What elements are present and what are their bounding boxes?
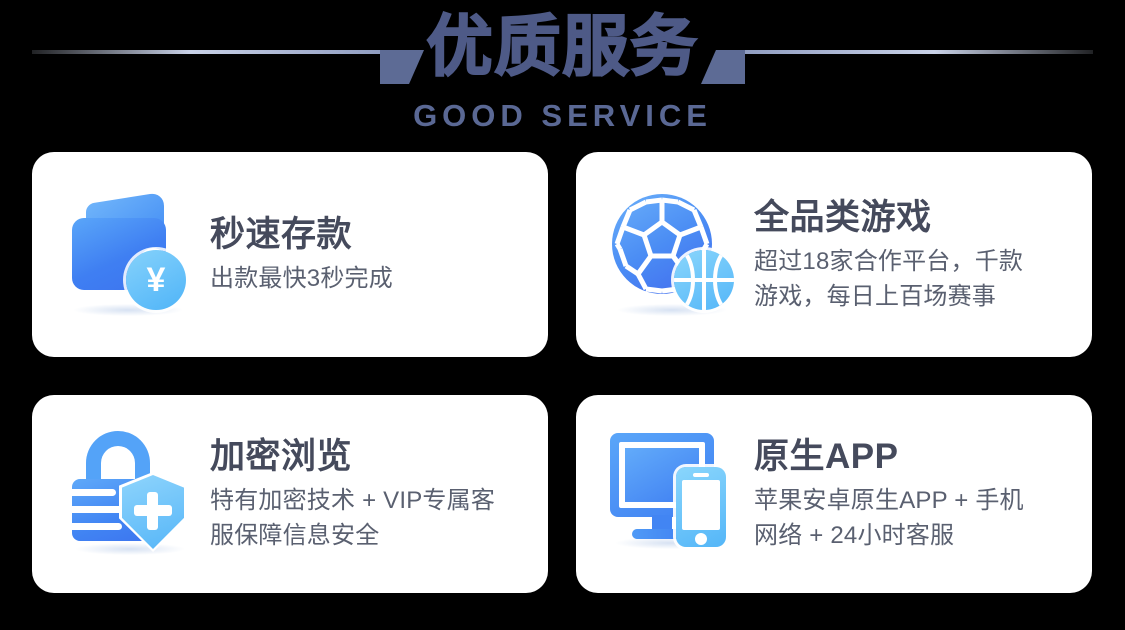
service-card-games[interactable]: 全品类游戏 超过18家合作平台，千款 游戏，每日上百场赛事 (576, 152, 1092, 357)
page-title: 优质服务 (0, 6, 1125, 88)
page-header: 优质服务 GOOD SERVICE (0, 0, 1125, 150)
card-icon-wrap (610, 188, 744, 322)
service-card-grid: ¥ 秒速存款 出款最快3秒完成 (32, 152, 1092, 593)
card-subtitle: 苹果安卓原生APP + 手机 网络 + 24小时客服 (754, 483, 1024, 553)
card-subtitle-line: 超过18家合作平台，千款 (754, 244, 1023, 279)
basketball-icon (674, 250, 734, 310)
lock-stripe (72, 523, 122, 530)
card-title: 全品类游戏 (754, 196, 1023, 240)
card-title: 秒速存款 (210, 213, 393, 257)
card-subtitle: 超过18家合作平台，千款 游戏，每日上百场赛事 (754, 244, 1023, 314)
card-subtitle: 特有加密技术 + VIP专属客 服保障信息安全 (210, 483, 495, 553)
card-icon-wrap (66, 427, 200, 561)
cross-icon (147, 492, 158, 530)
card-title: 加密浏览 (210, 435, 495, 479)
monitor-phone-icon (610, 433, 738, 547)
card-icon-wrap: ¥ (66, 188, 200, 322)
card-text-wrap: 原生APP 苹果安卓原生APP + 手机 网络 + 24小时客服 (754, 435, 1038, 553)
service-card-encryption[interactable]: 加密浏览 特有加密技术 + VIP专属客 服保障信息安全 (32, 395, 548, 593)
phone-screen-icon (682, 480, 720, 530)
card-subtitle-line: 苹果安卓原生APP + 手机 (754, 483, 1024, 518)
card-text-wrap: 秒速存款 出款最快3秒完成 (210, 213, 407, 296)
yen-coin-icon: ¥ (126, 250, 186, 310)
service-card-native-app[interactable]: 原生APP 苹果安卓原生APP + 手机 网络 + 24小时客服 (576, 395, 1092, 593)
wallet-yen-icon: ¥ (68, 196, 190, 314)
page-subtitle: GOOD SERVICE (0, 98, 1125, 134)
phone-speaker-icon (693, 473, 709, 477)
card-subtitle-line: 网络 + 24小时客服 (754, 518, 1024, 553)
service-card-deposit[interactable]: ¥ 秒速存款 出款最快3秒完成 (32, 152, 548, 357)
card-text-wrap: 加密浏览 特有加密技术 + VIP专属客 服保障信息安全 (210, 435, 509, 553)
phone-icon (676, 467, 726, 547)
icon-shadow (76, 543, 184, 555)
card-subtitle-line: 特有加密技术 + VIP专属客 (210, 483, 495, 518)
card-text-wrap: 全品类游戏 超过18家合作平台，千款 游戏，每日上百场赛事 (754, 196, 1037, 314)
card-title: 原生APP (754, 435, 1024, 479)
lock-shield-icon (70, 431, 190, 553)
soccer-basketball-icon (612, 194, 736, 314)
card-subtitle-line: 出款最快3秒完成 (210, 261, 393, 296)
card-icon-wrap (610, 427, 744, 561)
phone-home-button-icon (695, 533, 707, 545)
card-subtitle-line: 服保障信息安全 (210, 518, 495, 553)
card-subtitle: 出款最快3秒完成 (210, 261, 393, 296)
card-subtitle-line: 游戏，每日上百场赛事 (754, 279, 1023, 314)
lock-stripe (72, 489, 116, 496)
